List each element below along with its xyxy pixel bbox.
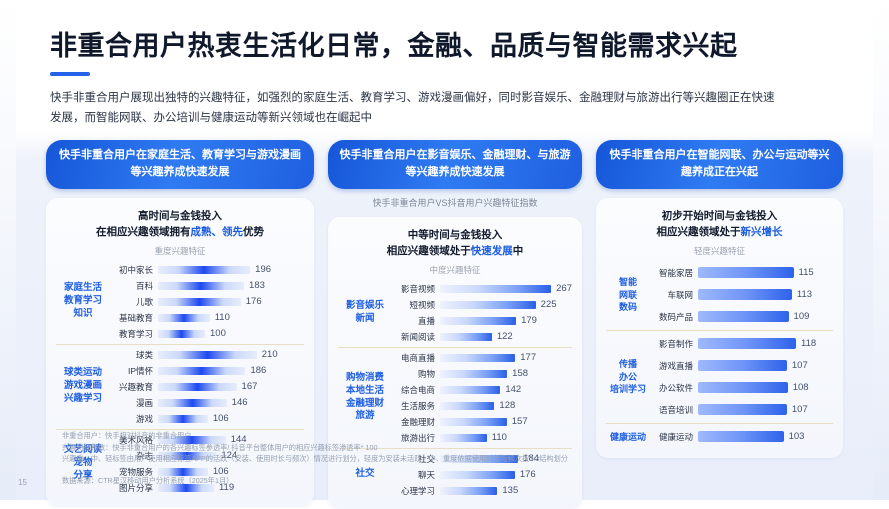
chart-bar-track: 107 [698,404,833,415]
chart-bar-row: 生活服务128 [394,398,572,414]
chart-group-label: 智能网联数码 [606,276,652,312]
right-edge-gradient [873,0,889,500]
chart-bar-value: 176 [241,296,262,307]
chart-bar-category-label: 短视频 [394,299,440,311]
chart-title-plain-b: 中 [513,245,524,257]
panel-3-chart-card: 初步开始时间与金钱投入相应兴趣领域处于新兴增长轻度兴趣特征智能网联数码智能家居1… [596,198,843,458]
chart-group-label: 社交 [338,468,394,481]
chart-bar [440,487,497,495]
chart-bar [158,351,257,359]
chart-bar-value: 167 [237,381,258,392]
chart-group: 球类运动游戏漫画兴趣学习球类210IP情怀186兴趣教育167漫画146游戏10… [56,344,304,429]
chart-bar-row: 智能家居115 [652,262,833,284]
chart-group-label: 影音娱乐新闻 [338,300,394,326]
panel-3: 快手非重合用户在智能网联、办公与运动等兴趣养成正在兴起初步开始时间与金钱投入相应… [596,140,843,452]
chart-bar-row: 综合电商142 [394,382,572,398]
footnote-block: 非重合用户：快手相对抖音的非重合用户兴趣特征指数：快手非重合用户的各兴趣标签参透… [62,430,869,465]
chart-bar-track: 100 [158,328,304,339]
chart-group-rows: 智能家居115车联网113数码产品109 [652,260,833,330]
chart-bar-value: 142 [500,384,521,395]
chart-title-plain-a: 相应兴趣领域处于 [657,226,741,238]
chart-bar-track: 107 [698,360,833,371]
chart-bar-category-label: 车联网 [652,289,698,301]
chart-bar-row: 短视频225 [394,297,572,313]
panel-row: 快手非重合用户在家庭生活、教育学习与游戏漫画等兴趣养成快速发展高时间与金钱投入在… [46,140,843,452]
chart-bar-track: 113 [698,289,833,300]
chart-bar-value: 113 [792,289,812,300]
chart-bar-category-label: 金融理财 [394,416,440,428]
chart-bar [440,301,536,309]
chart-bar-track: 110 [158,312,304,323]
chart-group-rows: 初中家长196百科183儿歌176基础教育110教育学习100 [112,260,304,344]
chart-bar-track: 109 [698,311,833,322]
chart-bar-category-label: 影音视频 [394,283,440,295]
chart-bar-track: 128 [440,400,572,411]
chart-group-rows: 球类210IP情怀186兴趣教育167漫画146游戏106 [112,345,304,429]
chart-bar-value: 157 [507,416,528,427]
chart-bar [158,383,237,391]
chart-bar [440,285,551,293]
chart-group-rows: 影音制作118游戏直播107办公软件108语音培训107 [652,331,833,423]
chart-title-line2: 相应兴趣领域处于新兴增长 [606,225,833,241]
chart-bar-category-label: 初中家长 [112,264,158,276]
chart-group-label: 家庭生活教育学习知识 [56,282,112,320]
slide-header: 非重合用户热衷生活化日常，金融、品质与智能需求兴起 快手非重合用户展现出独特的兴… [50,24,849,128]
chart-bar-row: 漫画146 [112,395,304,411]
left-edge-gradient [0,0,16,500]
chart-bar-row: 新闻阅读122 [394,329,572,345]
chart-bar-track: 115 [698,267,833,278]
chart-bar-track: 186 [158,365,304,376]
chart-title-plain-a: 在相应兴趣领域拥有 [96,226,191,238]
chart-group: 智能网联数码智能家居115车联网113数码产品109 [606,260,833,330]
chart-bar [440,370,507,378]
chart-bar-track: 167 [158,381,304,392]
chart-bar-value: 146 [227,397,248,408]
chart-title-plain-a: 相应兴趣领域处于 [387,245,471,257]
panel-1-chart-title: 高时间与金钱投入在相应兴趣领域拥有成熟、领先优势 [56,209,304,241]
chart-bar-category-label: 新闻阅读 [394,331,440,343]
panel-2-headline-pill: 快手非重合用户在影音娱乐、金融理财、与旅游等兴趣养成快速发展 [328,140,582,189]
chart-bar-category-label: 漫画 [112,397,158,409]
chart-title-line1: 高时间与金钱投入 [56,209,304,225]
chart-bar [158,282,244,290]
chart-group-label: 球类运动游戏漫画兴趣学习 [56,367,112,405]
chart-bar-value: 109 [789,311,810,322]
chart-bar-track: 106 [158,413,304,424]
chart-bar [158,330,205,338]
chart-title-line2: 相应兴趣领域处于快速发展中 [338,244,572,260]
chart-bar-category-label: 百科 [112,280,158,292]
chart-bar-row: 游戏106 [112,411,304,427]
chart-bar-row: 影音制作118 [652,333,833,355]
chart-bar-track: 196 [158,264,304,275]
chart-bar-row: 影音视频267 [394,281,572,297]
chart-bar-value: 107 [787,404,808,415]
chart-bar-value: 225 [536,299,557,310]
chart-bar-track: 158 [440,368,572,379]
chart-bar-value: 128 [494,400,515,411]
chart-bar-value: 122 [492,331,513,342]
chart-bar [440,317,516,325]
chart-bar [440,402,494,410]
source-note: 数据来源：CTR星汉移动用户分析系统（2025年1月） [62,476,233,486]
chart-bar-category-label: 智能家居 [652,267,698,279]
chart-bar-category-label: IP情怀 [112,365,158,377]
footnote-line: 非重合用户：快手相对抖音的非重合用户 [62,430,869,442]
panel-3-chart-subtitle: 轻度兴趣特征 [606,245,833,257]
chart-bar-category-label: 语音培训 [652,404,698,416]
chart-bar [698,338,796,349]
chart-bar-row: 金融理财157 [394,414,572,430]
chart-bar [158,415,208,423]
chart-bar-value: 158 [507,368,528,379]
chart-title-line2: 在相应兴趣领域拥有成熟、领先优势 [56,225,304,241]
chart-bar [698,382,788,393]
chart-bar-row: 初中家长196 [112,262,304,278]
chart-bar-track: 176 [158,296,304,307]
chart-bar-row: 兴趣教育167 [112,379,304,395]
chart-group-rows: 影音视频267短视频225直播179新闻阅读122 [394,279,572,347]
chart-bar [158,314,210,322]
chart-bar-row: 车联网113 [652,284,833,306]
page-subtitle: 快手非重合用户展现出独特的兴趣特征，如强烈的家庭生活、教育学习、游戏漫画偏好，同… [50,88,780,128]
chart-bar-value: 210 [257,349,278,360]
chart-bar [698,404,787,415]
panel-3-chart-title: 初步开始时间与金钱投入相应兴趣领域处于新兴增长 [606,209,833,241]
chart-bar-value: 179 [516,315,537,326]
chart-bar-row: 电商直播177 [394,350,572,366]
slide-canvas: 非重合用户热衷生活化日常，金融、品质与智能需求兴起 快手非重合用户展现出独特的兴… [0,0,889,500]
chart-bar-track: 267 [440,283,572,294]
chart-bar-category-label: 游戏直播 [652,360,698,372]
chart-bar [698,311,789,322]
chart-bar-track: 108 [698,382,833,393]
chart-bar-value: 107 [787,360,808,371]
chart-bar [440,418,507,426]
chart-title-highlight: 成熟、领先 [191,226,244,238]
chart-bar [158,298,241,306]
chart-bar-track: 183 [158,280,304,291]
page-number: 15 [18,478,27,487]
panel-1-headline-pill: 快手非重合用户在家庭生活、教育学习与游戏漫画等兴趣养成快速发展 [46,140,314,189]
chart-bar [158,367,245,375]
chart-bar-category-label: 聊天 [394,469,440,481]
chart-bar-value: 118 [796,338,816,349]
chart-bar-value: 110 [210,312,230,323]
chart-title-line1: 初步开始时间与金钱投入 [606,209,833,225]
chart-bar-track: 225 [440,299,572,310]
chart-bar-row: 儿歌176 [112,294,304,310]
chart-bar-track: 177 [440,352,572,363]
chart-bar-row: 聊天176 [394,467,572,483]
chart-bar-category-label: 基础教育 [112,312,158,324]
chart-bar-value: 267 [551,283,572,294]
chart-bar-value: 135 [497,485,518,496]
chart-bar-track: 210 [158,349,304,360]
chart-bar-value: 176 [515,469,536,480]
chart-bar-category-label: 兴趣教育 [112,381,158,393]
chart-bar [158,266,250,274]
panel-1: 快手非重合用户在家庭生活、教育学习与游戏漫画等兴趣养成快速发展高时间与金钱投入在… [46,140,314,452]
chart-bar-row: IP情怀186 [112,363,304,379]
chart-bar [698,360,787,371]
chart-group: 影音娱乐新闻影音视频267短视频225直播179新闻阅读122 [338,279,572,347]
page-title: 非重合用户热衷生活化日常，金融、品质与智能需求兴起 [50,24,849,63]
chart-bar-row: 语音培训107 [652,399,833,421]
panel-1-chart-subtitle: 重度兴趣特征 [56,245,304,257]
chart-bar-value: 106 [208,413,229,424]
chart-bar-track: 157 [440,416,572,427]
panel-2-chart-subtitle: 中度兴趣特征 [338,264,572,276]
chart-group-label: 购物消费本地生活金融理财旅游 [338,372,394,423]
chart-bar-category-label: 影音制作 [652,338,698,350]
chart-bar-row: 办公软件108 [652,377,833,399]
chart-bar [440,354,515,362]
panel-2: 快手非重合用户在影音娱乐、金融理财、与旅游等兴趣养成快速发展快手非重合用户VS抖… [328,140,582,452]
chart-bar-category-label: 办公软件 [652,382,698,394]
chart-bar [158,399,227,407]
chart-group-label: 传播办公培训学习 [606,358,652,394]
chart-bar-category-label: 直播 [394,315,440,327]
footnote-line: 兴趣特征指数：快手非重合用户的各兴趣标签参透率/ 抖音平台整体用户的相应兴趣标签… [62,442,869,454]
chart-bar [440,333,492,341]
chart-bar-row: 购物158 [394,366,572,382]
chart-bar [698,289,792,300]
chart-bar-category-label: 生活服务 [394,400,440,412]
chart-bar-value: 108 [788,382,809,393]
chart-bar [440,386,500,394]
chart-bar-row: 心理学习135 [394,483,572,499]
chart-bar-track: 176 [440,469,572,480]
chart-bar-category-label: 购物 [394,368,440,380]
chart-title-highlight: 新兴增长 [741,226,783,238]
chart-bar-track: 146 [158,397,304,408]
chart-bar-category-label: 数码产品 [652,311,698,323]
chart-bar-track: 135 [440,485,572,496]
chart-bar-row: 百科183 [112,278,304,294]
chart-group: 家庭生活教育学习知识初中家长196百科183儿歌176基础教育110教育学习10… [56,260,304,344]
chart-bar-value: 115 [794,267,814,278]
chart-group: 传播办公培训学习影音制作118游戏直播107办公软件108语音培训107 [606,330,833,423]
chart-bar-row: 球类210 [112,347,304,363]
chart-bar-category-label: 教育学习 [112,328,158,340]
chart-bar-value: 196 [250,264,271,275]
footnote-line: 兴趣重、中、轻标签由用户使用相应标签APP的活跃（安装、使用时长与频次）情况进行… [62,453,869,465]
chart-bar-row: 直播179 [394,313,572,329]
chart-bar-category-label: 游戏 [112,413,158,425]
chart-bar-track: 118 [698,338,833,349]
chart-bar-value: 177 [515,352,536,363]
chart-bar-track: 142 [440,384,572,395]
chart-bar [440,471,515,479]
chart-title-highlight: 快速发展 [471,245,513,257]
chart-bar-value: 186 [245,365,266,376]
chart-title-line1: 中等时间与金钱投入 [338,228,572,244]
chart-bar-row: 游戏直播107 [652,355,833,377]
chart-bar-track: 179 [440,315,572,326]
chart-bar-category-label: 电商直播 [394,352,440,364]
panel-3-headline-pill: 快手非重合用户在智能网联、办公与运动等兴趣养成正在兴起 [596,140,843,189]
chart-bar-category-label: 心理学习 [394,485,440,497]
panel-2-comparison-note: 快手非重合用户VS抖音用户兴趣特征指数 [328,196,582,208]
panel-2-chart-title: 中等时间与金钱投入相应兴趣领域处于快速发展中 [338,228,572,260]
chart-bar-row: 基础教育110 [112,310,304,326]
chart-bar [698,267,794,278]
chart-title-plain-b: 优势 [243,226,264,238]
chart-bar-value: 100 [205,328,226,339]
chart-bar-row: 教育学习100 [112,326,304,342]
chart-bar-category-label: 综合电商 [394,384,440,396]
chart-bar-category-label: 儿歌 [112,296,158,308]
chart-bar-row: 数码产品109 [652,306,833,328]
chart-bar-category-label: 球类 [112,349,158,361]
chart-bar-value: 183 [244,280,265,291]
title-underline-rule [50,72,90,76]
chart-bar-track: 122 [440,331,572,342]
chart-bar [158,468,208,476]
